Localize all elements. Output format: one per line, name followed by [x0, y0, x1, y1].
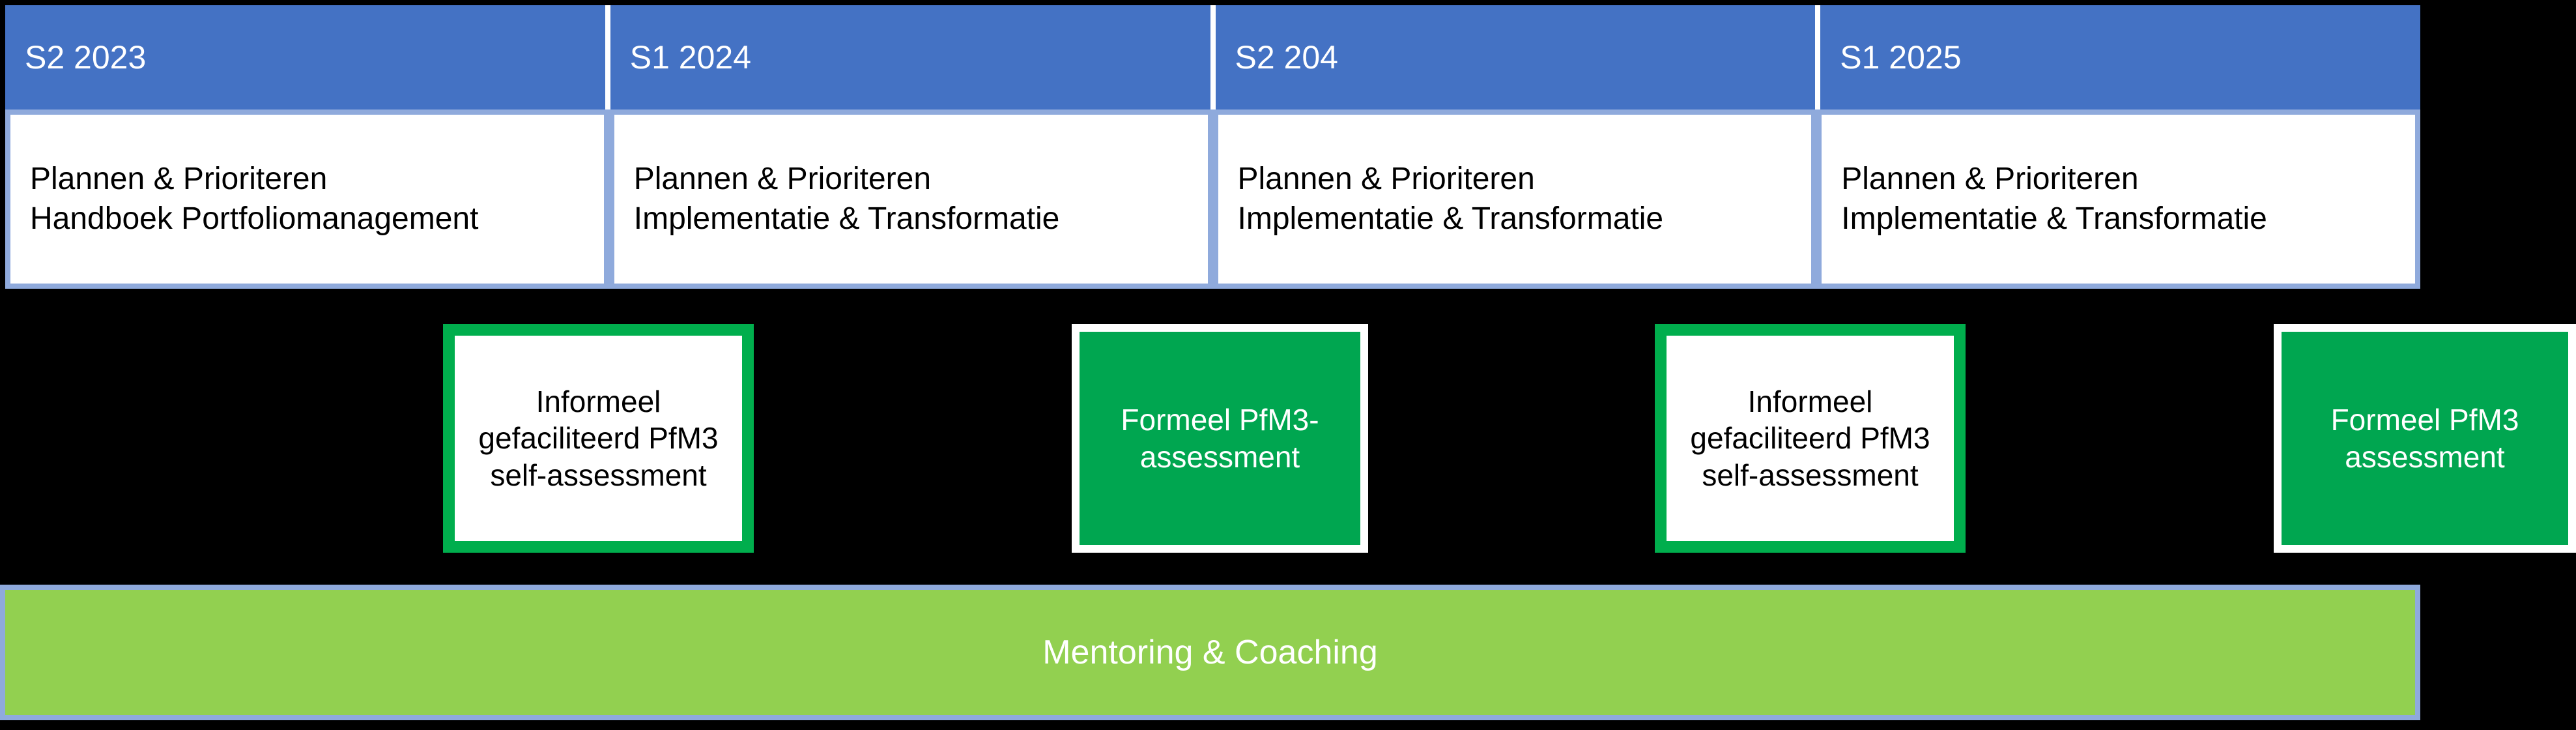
assessment-box-formeel-2: Formeel PfM3 assessment: [2274, 324, 2576, 553]
timeline-body-cell-2: Plannen & Prioriteren Implementatie & Tr…: [609, 115, 1213, 284]
activity-line: Handboek Portfoliomanagement: [30, 199, 604, 239]
assessment-label: Informeel gefaciliteerd PfM3 self-assess…: [1677, 383, 1943, 493]
mentoring-coaching-bar: Mentoring & Coaching: [0, 585, 2420, 720]
period-label-s1-2025: S1 2025: [1840, 38, 1961, 76]
timeline-header-cell-3: S2 204: [1216, 5, 1821, 109]
timeline-body-cell-4: Plannen & Prioriteren Implementatie & Tr…: [1816, 115, 2420, 284]
timeline-header-cell-1: S2 2023: [5, 5, 610, 109]
period-label-s1-2024: S1 2024: [630, 38, 751, 76]
timeline-body-cell-1: Plannen & Prioriteren Handboek Portfolio…: [5, 115, 609, 284]
activity-line: Plannen & Prioriteren: [634, 160, 1208, 199]
activity-line: Implementatie & Transformatie: [1238, 199, 1812, 239]
assessment-label: Informeel gefaciliteerd PfM3 self-assess…: [465, 383, 732, 493]
activity-line: Implementatie & Transformatie: [634, 199, 1208, 239]
period-label-s2-2023: S2 2023: [25, 38, 146, 76]
timeline-header-cell-4: S1 2025: [1820, 5, 2420, 109]
timeline-body-cell-3: Plannen & Prioriteren Implementatie & Tr…: [1213, 115, 1817, 284]
activity-line: Implementatie & Transformatie: [1841, 199, 2415, 239]
timeline-header-row: S2 2023 S1 2024 S2 204 S1 2025: [5, 5, 2420, 109]
assessment-box-informeel-2: Informeel gefaciliteerd PfM3 self-assess…: [1655, 324, 1966, 553]
timeline-header-cell-2: S1 2024: [610, 5, 1216, 109]
assessment-label: Formeel PfM3 assessment: [2292, 401, 2558, 474]
activity-line: Plannen & Prioriteren: [1238, 160, 1812, 199]
assessment-box-informeel-1: Informeel gefaciliteerd PfM3 self-assess…: [443, 324, 754, 553]
timeline-table: S2 2023 S1 2024 S2 204 S1 2025 Plannen &…: [5, 5, 2420, 289]
assessment-label: Formeel PfM3-assessment: [1090, 401, 1350, 474]
timeline-body-row: Plannen & Prioriteren Handboek Portfolio…: [5, 109, 2420, 289]
activity-line: Plannen & Prioriteren: [1841, 160, 2415, 199]
period-label-s2-204: S2 204: [1235, 38, 1338, 76]
assessment-box-formeel-1: Formeel PfM3-assessment: [1072, 324, 1368, 553]
mentoring-coaching-label: Mentoring & Coaching: [1042, 633, 1378, 672]
activity-line: Plannen & Prioriteren: [30, 160, 604, 199]
